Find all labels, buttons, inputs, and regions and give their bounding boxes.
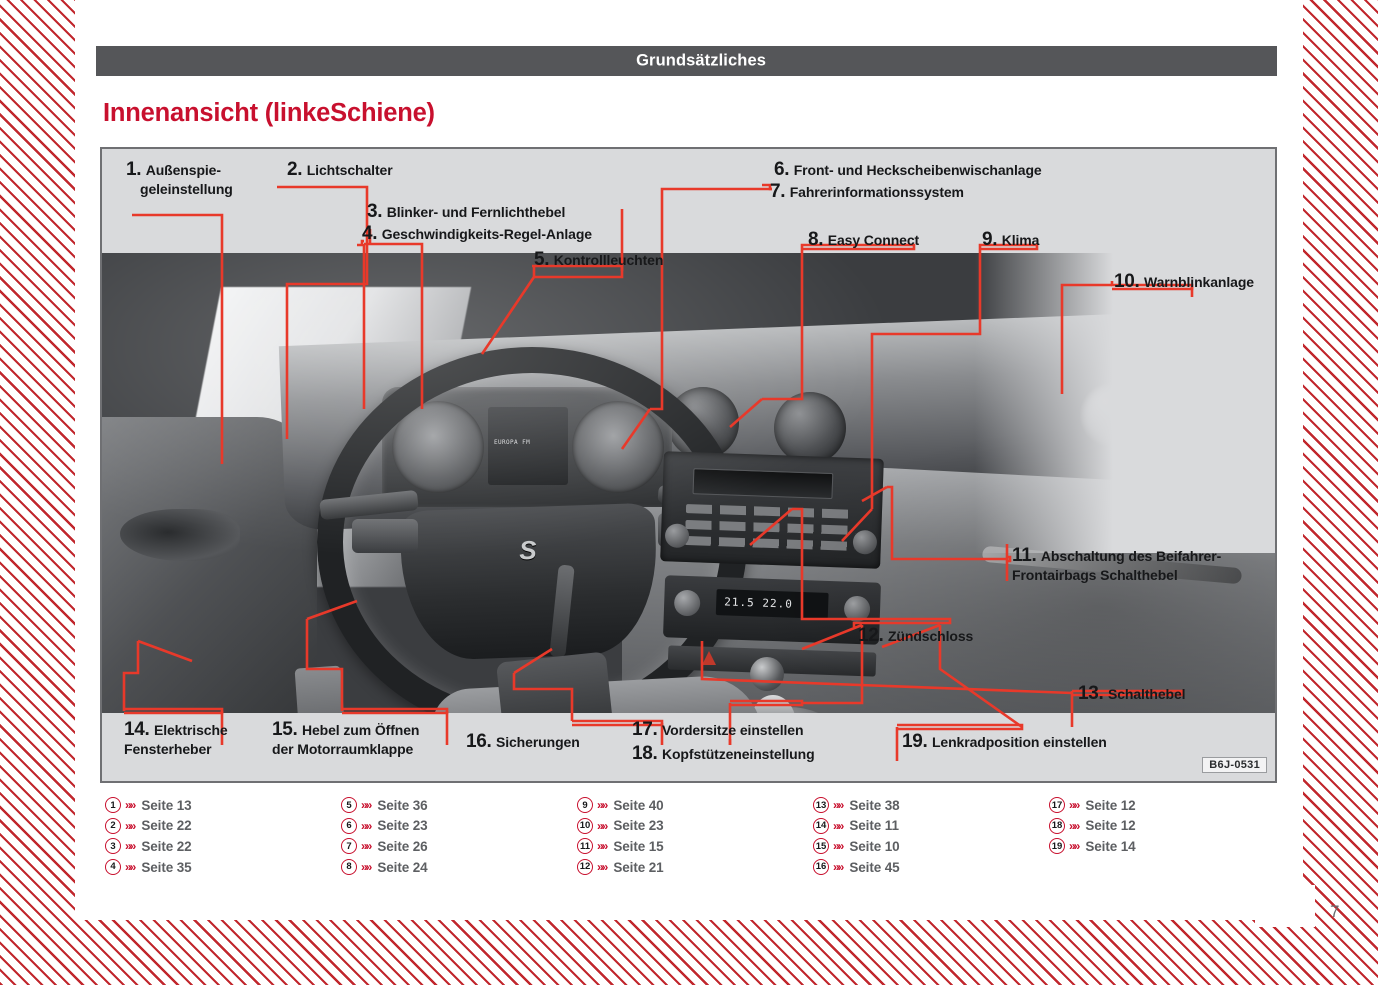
reference-badge: 13 bbox=[813, 797, 829, 813]
climate-control-panel: 21.5 22.0 bbox=[663, 575, 881, 645]
chevron-right-icon: »» bbox=[597, 798, 606, 812]
callout-11-number: 11. bbox=[1012, 545, 1036, 566]
chevron-right-icon: »» bbox=[361, 860, 370, 874]
reference-badge: 2 bbox=[105, 818, 121, 834]
reference-badge: 12 bbox=[577, 859, 593, 875]
reference-label: Seite 15 bbox=[613, 839, 663, 854]
reference-badge: 9 bbox=[577, 797, 593, 813]
callout-11: 11. Abschaltung des Beifahrer- Frontairb… bbox=[1012, 545, 1272, 586]
reference-badge: 8 bbox=[341, 859, 357, 875]
callout-13-label: Schalthebel bbox=[1108, 686, 1185, 702]
reference-badge: 10 bbox=[577, 818, 593, 834]
chevron-right-icon: »» bbox=[361, 839, 370, 853]
page-title: Innenansicht (linkeSchiene) bbox=[103, 99, 435, 128]
reference-label: Seite 38 bbox=[849, 798, 899, 813]
chevron-right-icon: »» bbox=[597, 839, 606, 853]
easy-connect-radio bbox=[660, 451, 884, 569]
callout-7: 7. Fahrerinformationssystem bbox=[770, 181, 964, 203]
reference-row[interactable]: 12 »» Seite 21 bbox=[577, 857, 813, 878]
callout-8: 8. Easy Connect bbox=[808, 229, 919, 251]
callout-15-number: 15. bbox=[272, 719, 298, 740]
radio-knob-right bbox=[853, 530, 878, 555]
reference-row[interactable]: 15 »» Seite 10 bbox=[813, 836, 1049, 857]
seat-logo: S bbox=[519, 535, 538, 567]
callout-5: 5. Kontrollleuchten bbox=[534, 249, 663, 271]
callout-7-label: Fahrerinformationssystem bbox=[790, 184, 964, 200]
callout-9-label: Klima bbox=[1002, 232, 1040, 248]
chevron-right-icon: »» bbox=[361, 819, 370, 833]
callout-14-line2: Fensterheber bbox=[124, 741, 212, 757]
reference-label: Seite 10 bbox=[849, 839, 899, 854]
callout-14-number: 14. bbox=[124, 719, 150, 740]
reference-label: Seite 22 bbox=[141, 818, 191, 833]
steering-wheel-hub: S bbox=[399, 503, 659, 662]
reference-row[interactable]: 1 »» Seite 13 bbox=[105, 795, 341, 816]
reference-badge: 14 bbox=[813, 818, 829, 834]
callout-12: 12. Zündschloss bbox=[858, 625, 973, 647]
callout-4-label: Geschwindigkeits-Regel-Anlage bbox=[382, 226, 592, 242]
reference-badge: 7 bbox=[341, 838, 357, 854]
chapter-title: Grundsätzliches bbox=[636, 52, 766, 71]
climate-knob-left bbox=[674, 590, 701, 617]
reference-badge: 18 bbox=[1049, 818, 1065, 834]
chevron-right-icon: »» bbox=[597, 819, 606, 833]
callout-3: 3. Blinker- und Fernlichthebel bbox=[367, 201, 565, 223]
callout-8-label: Easy Connect bbox=[828, 232, 919, 248]
callout-10-label: Warnblinkanlage bbox=[1144, 274, 1254, 290]
callout-14: 14. Elektrische Fensterheber bbox=[124, 719, 264, 760]
callout-8-number: 8. bbox=[808, 229, 823, 250]
chevron-right-icon: »» bbox=[833, 798, 842, 812]
callout-13-number: 13. bbox=[1078, 683, 1104, 704]
reference-row[interactable]: 19 »» Seite 14 bbox=[1049, 836, 1285, 857]
air-vent-icon bbox=[774, 392, 846, 464]
reference-label: Seite 12 bbox=[1085, 798, 1135, 813]
page-number: 7 bbox=[1330, 902, 1339, 922]
reference-badge: 3 bbox=[105, 838, 121, 854]
chapter-bar: Grundsätzliches bbox=[96, 46, 1277, 76]
reference-badge: 4 bbox=[105, 859, 121, 875]
callout-3-label: Blinker- und Fernlichthebel bbox=[387, 204, 566, 220]
chevron-right-icon: »» bbox=[1069, 798, 1078, 812]
reference-row[interactable]: 3 »» Seite 22 bbox=[105, 836, 341, 857]
reference-row[interactable]: 13 »» Seite 38 bbox=[813, 795, 1049, 816]
reference-label: Seite 24 bbox=[377, 860, 427, 875]
callout-18-label: Kopfstützeneinstellung bbox=[662, 746, 815, 762]
callout-10-number: 10. bbox=[1114, 271, 1140, 292]
reference-label: Seite 35 bbox=[141, 860, 191, 875]
chevron-right-icon: »» bbox=[125, 860, 134, 874]
callout-3-number: 3. bbox=[367, 201, 382, 222]
caption-band-right bbox=[975, 253, 1275, 553]
callout-12-label: Zündschloss bbox=[888, 628, 973, 644]
reference-column: 13 »» Seite 38 14 »» Seite 11 15 »» Seit… bbox=[813, 795, 1049, 887]
reference-row[interactable]: 2 »» Seite 22 bbox=[105, 816, 341, 837]
reference-row[interactable]: 6 »» Seite 23 bbox=[341, 816, 577, 837]
callout-1-line2: geleinstellung bbox=[140, 181, 233, 197]
callout-2: 2. Lichtschalter bbox=[287, 159, 393, 181]
callout-7-number: 7. bbox=[770, 181, 785, 202]
callout-19-label: Lenkradposition einstellen bbox=[932, 734, 1107, 750]
reference-label: Seite 40 bbox=[613, 798, 663, 813]
reference-column: 1 »» Seite 13 2 »» Seite 22 3 »» Seite 2… bbox=[105, 795, 341, 887]
reference-row[interactable]: 8 »» Seite 24 bbox=[341, 857, 577, 878]
figure-inner: EUROPA FM S 21.5 22.0 bbox=[102, 149, 1275, 781]
reference-row[interactable]: 16 »» Seite 45 bbox=[813, 857, 1049, 878]
radio-button-row bbox=[685, 536, 855, 551]
door-handle-shape bbox=[120, 509, 240, 561]
callout-1: 1. Außenspie- geleinstellung bbox=[126, 159, 306, 200]
callout-11-line2: Frontairbags Schalthebel bbox=[1012, 567, 1178, 583]
climate-screen: 21.5 22.0 bbox=[716, 589, 829, 619]
chevron-right-icon: »» bbox=[833, 839, 842, 853]
reference-label: Seite 36 bbox=[377, 798, 427, 813]
reference-badge: 5 bbox=[341, 797, 357, 813]
reference-column: 5 »» Seite 36 6 »» Seite 23 7 »» Seite 2… bbox=[341, 795, 577, 887]
callout-4: 4. Geschwindigkeits-Regel-Anlage bbox=[362, 223, 592, 245]
callout-18-number: 18. bbox=[632, 743, 658, 764]
ignition-lock-shape bbox=[750, 657, 784, 691]
callout-10: 10. Warnblinkanlage bbox=[1114, 271, 1254, 293]
reference-label: Seite 21 bbox=[613, 860, 663, 875]
chevron-right-icon: »» bbox=[361, 798, 370, 812]
reference-label: Seite 23 bbox=[377, 818, 427, 833]
radio-button-row bbox=[685, 520, 855, 535]
chevron-right-icon: »» bbox=[1069, 839, 1078, 853]
callout-6-number: 6. bbox=[774, 159, 789, 180]
callout-12-number: 12. bbox=[858, 625, 884, 646]
reference-column: 17 »» Seite 12 18 »» Seite 12 19 »» Seit… bbox=[1049, 795, 1285, 887]
callout-1-number: 1. bbox=[126, 159, 141, 180]
callout-19-number: 19. bbox=[902, 731, 928, 752]
callout-16-number: 16. bbox=[466, 731, 492, 752]
reference-badge: 1 bbox=[105, 797, 121, 813]
reference-badge: 19 bbox=[1049, 838, 1065, 854]
callout-9: 9. Klima bbox=[982, 229, 1039, 251]
reference-badge: 6 bbox=[341, 818, 357, 834]
callout-17-label: Vordersitze einstellen bbox=[662, 722, 803, 738]
reference-label: Seite 22 bbox=[141, 839, 191, 854]
callout-5-label: Kontrollleuchten bbox=[554, 252, 664, 268]
reference-badge: 11 bbox=[577, 838, 593, 854]
reference-row[interactable]: 9 »» Seite 40 bbox=[577, 795, 813, 816]
reference-badge: 16 bbox=[813, 859, 829, 875]
wheel-button-left bbox=[352, 519, 418, 553]
reference-row[interactable]: 5 »» Seite 36 bbox=[341, 795, 577, 816]
chevron-right-icon: »» bbox=[833, 860, 842, 874]
chevron-right-icon: »» bbox=[1069, 819, 1078, 833]
reference-label: Seite 12 bbox=[1085, 818, 1135, 833]
chevron-right-icon: »» bbox=[833, 819, 842, 833]
reference-row[interactable]: 17 »» Seite 12 bbox=[1049, 795, 1285, 816]
figure-code-label: B6J-0531 bbox=[1202, 757, 1267, 773]
interior-view-figure: EUROPA FM S 21.5 22.0 bbox=[100, 147, 1277, 783]
callout-13: 13. Schalthebel bbox=[1078, 683, 1185, 705]
reference-label: Seite 26 bbox=[377, 839, 427, 854]
callout-11-line1: Abschaltung des Beifahrer- bbox=[1041, 548, 1221, 564]
page-number-plate bbox=[1255, 885, 1315, 927]
reference-row[interactable]: 14 »» Seite 11 bbox=[813, 816, 1049, 837]
callout-15-line1: Hebel zum Öffnen bbox=[302, 722, 419, 738]
callout-5-number: 5. bbox=[534, 249, 549, 270]
reference-label: Seite 11 bbox=[849, 818, 899, 833]
callout-6-label: Front- und Heckscheibenwischanlage bbox=[794, 162, 1042, 178]
callout-18: 18. Kopfstützeneinstellung bbox=[632, 743, 815, 765]
chevron-right-icon: »» bbox=[597, 860, 606, 874]
reference-label: Seite 23 bbox=[613, 818, 663, 833]
climate-temperature-readout: 21.5 22.0 bbox=[724, 595, 793, 610]
callout-17-number: 17. bbox=[632, 719, 658, 740]
radio-screen bbox=[693, 468, 834, 499]
callout-17: 17. Vordersitze einstellen bbox=[632, 719, 803, 741]
callout-15: 15. Hebel zum Öffnen der Motorraumklappe bbox=[272, 719, 472, 760]
chevron-right-icon: »» bbox=[125, 819, 134, 833]
callout-4-number: 4. bbox=[362, 223, 377, 244]
reference-row[interactable]: 7 »» Seite 26 bbox=[341, 836, 577, 857]
callout-6: 6. Front- und Heckscheibenwischanlage bbox=[774, 159, 1042, 181]
reference-label: Seite 13 bbox=[141, 798, 191, 813]
chevron-right-icon: »» bbox=[125, 798, 134, 812]
callout-16-label: Sicherungen bbox=[496, 734, 580, 750]
callout-16: 16. Sicherungen bbox=[466, 731, 580, 753]
climate-knob-right bbox=[844, 596, 871, 623]
reference-badge: 15 bbox=[813, 838, 829, 854]
chevron-right-icon: »» bbox=[125, 839, 134, 853]
reference-badge: 17 bbox=[1049, 797, 1065, 813]
callout-14-line1: Elektrische bbox=[154, 722, 228, 738]
callout-2-label: Lichtschalter bbox=[307, 162, 393, 178]
callout-19: 19. Lenkradposition einstellen bbox=[902, 731, 1107, 753]
callout-15-line2: der Motorraumklappe bbox=[272, 741, 413, 757]
callout-2-number: 2. bbox=[287, 159, 302, 180]
reference-row[interactable]: 10 »» Seite 23 bbox=[577, 816, 813, 837]
reference-label: Seite 45 bbox=[849, 860, 899, 875]
page-reference-list: 1 »» Seite 13 2 »» Seite 22 3 »» Seite 2… bbox=[105, 795, 1285, 887]
reference-label: Seite 14 bbox=[1085, 839, 1135, 854]
reference-column: 9 »» Seite 40 10 »» Seite 23 11 »» Seite… bbox=[577, 795, 813, 887]
reference-row[interactable]: 11 »» Seite 15 bbox=[577, 836, 813, 857]
callout-1-line1: Außenspie- bbox=[146, 162, 221, 178]
reference-row[interactable]: 4 »» Seite 35 bbox=[105, 857, 341, 878]
radio-button-row bbox=[686, 504, 856, 519]
reference-row[interactable]: 18 »» Seite 12 bbox=[1049, 816, 1285, 837]
callout-9-number: 9. bbox=[982, 229, 997, 250]
